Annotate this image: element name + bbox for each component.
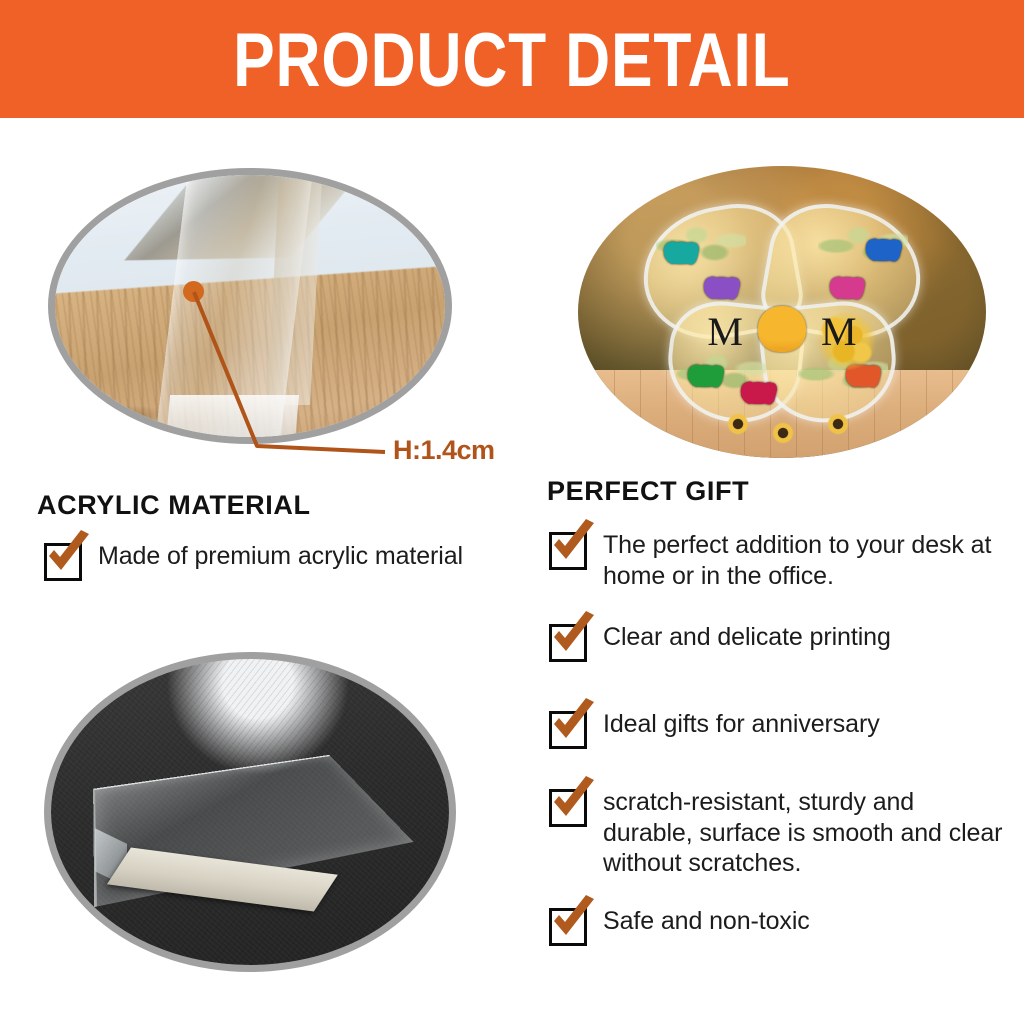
butterfly-pink-icon <box>830 277 864 299</box>
butterfly-red-icon <box>741 382 775 404</box>
page-title: PRODUCT DETAIL <box>233 23 790 99</box>
height-measurement-label: H:1.4cm <box>393 435 495 466</box>
section-heading-acrylic-material: ACRYLIC MATERIAL <box>37 490 311 521</box>
feature-text: Safe and non-toxic <box>603 906 810 937</box>
header-banner: PRODUCT DETAIL <box>0 0 1024 118</box>
butterfly-purple-icon <box>704 277 738 299</box>
check-glyph-icon <box>546 519 602 573</box>
butterfly-green-icon <box>688 365 722 387</box>
measurement-dot-icon <box>183 281 204 302</box>
check-glyph-icon <box>41 530 97 584</box>
butterfly-teal-icon <box>664 242 698 264</box>
check-glyph-icon <box>546 698 602 752</box>
check-glyph-icon <box>546 611 602 665</box>
feature-item: scratch-resistant, sturdy and durable, s… <box>549 787 1004 879</box>
acrylic-block-base-highlight <box>166 395 299 442</box>
checkmark-icon <box>549 789 587 827</box>
sunflower-bottom-center <box>770 420 796 446</box>
feature-item: The perfect addition to your desk at hom… <box>549 530 999 591</box>
feature-item: Clear and delicate printing <box>549 622 999 662</box>
feature-item: Safe and non-toxic <box>549 906 999 946</box>
sunflower-bottom-left <box>725 411 751 437</box>
feature-item: Made of premium acrylic material <box>44 541 514 581</box>
butterfly-ornament-photo: M M <box>578 166 986 458</box>
section-heading-perfect-gift: PERFECT GIFT <box>547 476 749 507</box>
feature-text: scratch-resistant, sturdy and durable, s… <box>603 787 1004 879</box>
monarch-butterfly-icon <box>758 306 806 352</box>
checkmark-icon <box>549 908 587 946</box>
checkmark-icon <box>44 543 82 581</box>
checkmark-icon <box>549 711 587 749</box>
checkmark-icon <box>549 532 587 570</box>
acrylic-edge-scene <box>55 175 445 437</box>
feature-text: Clear and delicate printing <box>603 622 891 653</box>
check-glyph-icon <box>546 776 602 830</box>
acrylic-slab-photo <box>44 652 456 972</box>
acrylic-edge-photo <box>48 168 452 444</box>
feature-item: Ideal gifts for anniversary <box>549 709 999 749</box>
feature-text: Made of premium acrylic material <box>98 541 463 572</box>
feature-text: Ideal gifts for anniversary <box>603 709 880 740</box>
butterfly-blue-icon <box>866 239 900 261</box>
feature-text: The perfect addition to your desk at hom… <box>603 530 999 591</box>
check-glyph-icon <box>546 895 602 949</box>
checkmark-icon <box>549 624 587 662</box>
